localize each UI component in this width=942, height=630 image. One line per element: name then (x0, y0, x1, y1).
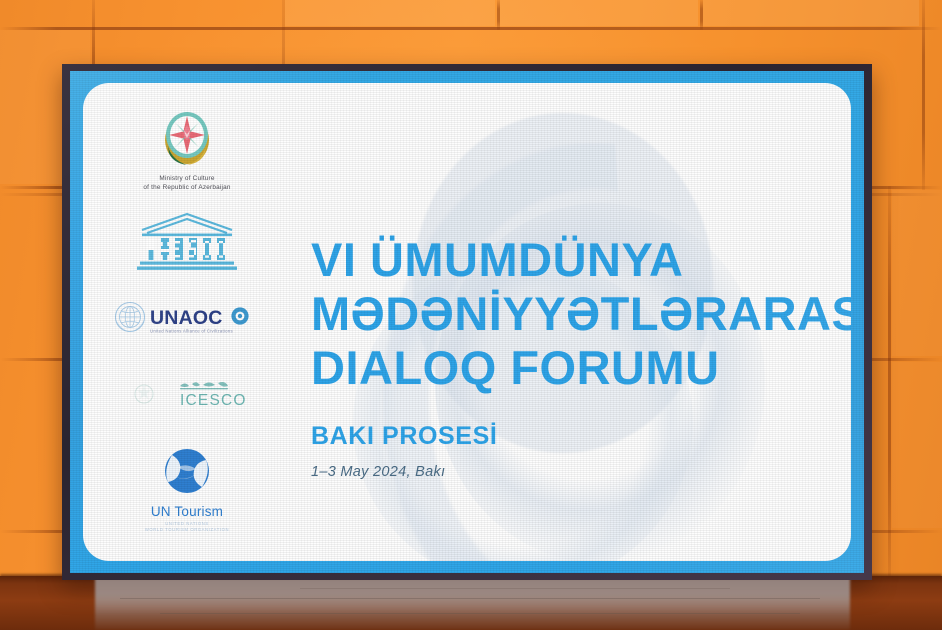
logo-ministry-of-culture: Ministry of Culture of the Republic of A… (107, 107, 267, 192)
un-tourism-subtext-line2: WORLD TOURISM ORGANIZATION (132, 527, 242, 533)
wall-seam (922, 0, 925, 190)
floor-plank-line (120, 598, 820, 599)
svg-text:United Nations Alliance of Civ: United Nations Alliance of Civilizations (150, 329, 233, 334)
logo-unaoc: UNAOC United Nations Alliance of Civiliz… (107, 300, 267, 336)
un-tourism-globe-icon (132, 447, 242, 497)
title-line-1: VI ÜMUMDÜNYA (311, 233, 831, 287)
svg-text:ICESCO: ICESCO (180, 392, 247, 409)
icesco-arabic-wordmark (180, 382, 228, 389)
title-line-2: MƏDƏNİYYƏTLƏRARASI (311, 287, 831, 341)
slide-title-block: VI ÜMUMDÜNYA MƏDƏNİYYƏTLƏRARASI DIALOQ F… (311, 233, 831, 480)
ministry-caption-line2: of the Republic of Azerbaijan (107, 183, 267, 192)
un-emblem-icon (116, 303, 145, 333)
unesco-temple-icon (134, 211, 240, 273)
wall-panel-highlight (892, 362, 942, 528)
led-screen-bezel: Ministry of Culture of the Republic of A… (62, 64, 872, 580)
unaoc-swirl-icon (231, 307, 248, 324)
wall-panel-highlight (703, 0, 919, 26)
led-screen: Ministry of Culture of the Republic of A… (70, 71, 864, 573)
slide-subtitle: BAKI PROSESİ (311, 421, 831, 451)
icesco-lockup: ICESCO (122, 372, 252, 416)
un-tourism-lockup: UN Tourism UNITED NATIONS WORLD TOURISM … (132, 447, 242, 525)
wall-panel-highlight (500, 0, 698, 26)
logo-un-tourism: UN Tourism UNITED NATIONS WORLD TOURISM … (107, 447, 267, 525)
slide-date-location: 1–3 May 2024, Bakı (311, 464, 831, 480)
ministry-caption-line1: Ministry of Culture (107, 174, 267, 183)
screen-reflection-on-floor (95, 578, 850, 630)
svg-text:UNAOC: UNAOC (150, 307, 223, 329)
icesco-crescent-icon (124, 378, 156, 410)
wall-seam (0, 27, 942, 30)
un-tourism-wordmark: UN Tourism (132, 504, 242, 519)
wall-seam (888, 186, 891, 576)
un-tourism-subtext: UNITED NATIONS WORLD TOURISM ORGANIZATIO… (132, 521, 242, 533)
floor-plank-line (160, 613, 800, 614)
unaoc-lockup: UNAOC United Nations Alliance of Civiliz… (114, 300, 260, 336)
ministry-caption: Ministry of Culture of the Republic of A… (107, 174, 267, 192)
photo-scene: Ministry of Culture of the Republic of A… (0, 0, 942, 630)
partner-logo-rail: Ministry of Culture of the Republic of A… (107, 107, 267, 537)
azerbaijan-state-emblem-icon (158, 107, 216, 169)
wall-panel-highlight (285, 0, 495, 26)
floor-plank-line (300, 588, 730, 589)
slide-canvas: Ministry of Culture of the Republic of A… (83, 83, 851, 561)
title-line-3: DIALOQ FORUMU (311, 341, 831, 395)
wall-panel-highlight (892, 190, 942, 356)
logo-icesco: ICESCO (107, 372, 267, 416)
logo-unesco (107, 211, 267, 273)
